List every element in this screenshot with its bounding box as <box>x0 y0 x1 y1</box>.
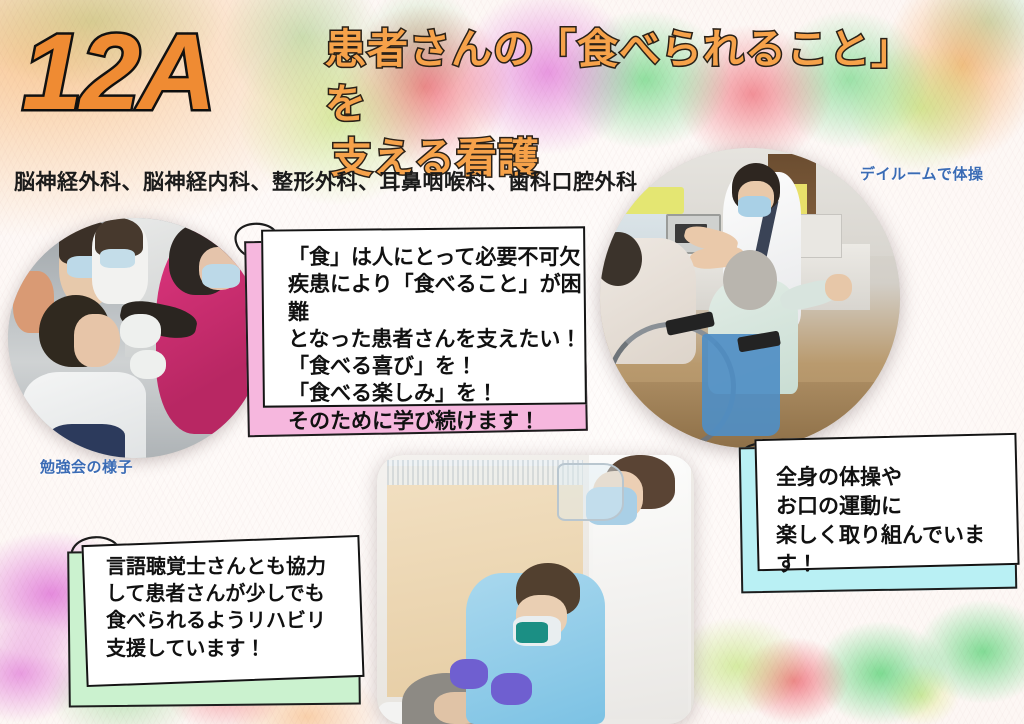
photo-study-model-lap <box>49 424 126 458</box>
departments-list: 脳神経外科、脳神経内科、整形外科、耳鼻咽喉科、歯科口腔外科 <box>14 166 638 196</box>
photo-dayroom-basket <box>624 187 684 214</box>
page-title-line-1: 患者さんの「食べられること」を <box>325 22 925 131</box>
photo-study-glove-lower <box>130 350 166 379</box>
photo-oral-care-face-shield <box>557 463 624 521</box>
callout-mission: 「食」は人にとって必要不可欠 疾患により「食べること」が困難 となった患者さんを… <box>252 228 588 420</box>
photo-dayroom-scene <box>600 148 900 448</box>
ward-code: 12A <box>22 18 214 126</box>
callout-rehab-text: 言語聴覚士さんとも協力 して患者さんが少しでも 食べられるようリハビリ 支援して… <box>106 554 356 663</box>
caption-dayroom-exercise: デイルームで体操 <box>860 163 984 184</box>
callout-mission-text: 「食」は人にとって必要不可欠 疾患により「食べること」が困難 となった患者さんを… <box>288 244 584 435</box>
photo-oral-care-glove-left <box>450 659 488 689</box>
photo-dayroom-patient-b-hair <box>723 250 777 310</box>
photo-dayroom-staff-mask <box>738 196 771 217</box>
photo-study-instructor-mask <box>202 264 240 288</box>
photo-oral-care-curtain-mesh <box>387 460 584 484</box>
photo-oral-care-nurse-scrub <box>516 622 548 644</box>
callout-rehab: 言語聴覚士さんとも協力 して患者さんが少しでも 食べられるようリハビリ 支援して… <box>76 540 364 692</box>
callout-exercise: 全身の体操や お口の運動に 楽しく取り組んでいます！ <box>748 436 1020 578</box>
photo-oral-care-glove-right <box>491 673 532 705</box>
callout-exercise-text: 全身の体操や お口の運動に 楽しく取り組んでいます！ <box>776 464 1012 580</box>
photo-study-scene <box>8 218 263 458</box>
photo-study-session <box>8 218 263 458</box>
photo-dayroom-exercise <box>600 148 900 448</box>
caption-study-session: 勉強会の様子 <box>40 456 133 477</box>
photo-oral-care <box>377 455 694 724</box>
photo-study-model-face <box>74 314 120 367</box>
photo-study-nurse-b-mask <box>100 249 136 268</box>
photo-oral-care-scene <box>377 455 694 724</box>
poster-canvas: 12A 患者さんの「食べられること」を 支える看護 脳神経外科、脳神経内科、整形… <box>0 0 1024 724</box>
photo-dayroom-patient-b-hand <box>825 274 852 301</box>
photo-study-glove-upper <box>120 314 161 348</box>
